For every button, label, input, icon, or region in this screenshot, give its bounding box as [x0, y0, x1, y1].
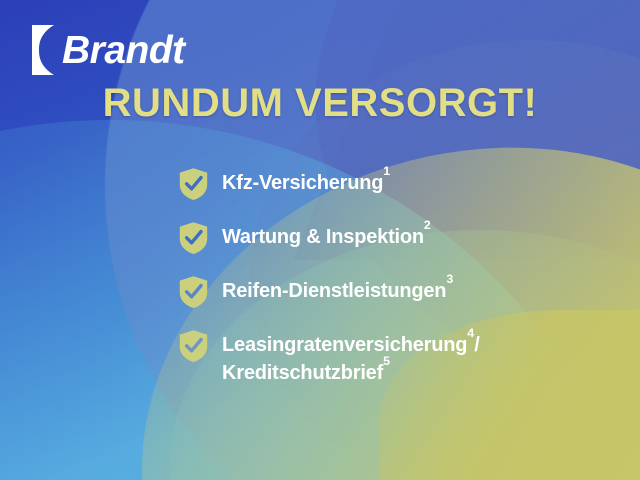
benefit-footnote: 3 [446, 272, 453, 286]
benefit-footnote: 4 [467, 326, 474, 340]
shield-check-icon [178, 275, 209, 309]
shield-check-icon [178, 167, 209, 201]
benefit-text: Reifen-Dienstleistungen [222, 280, 446, 302]
brand-logo: Brandt [28, 22, 185, 78]
shield-check-icon [178, 329, 209, 363]
benefit-text: Wartung & Inspektion [222, 226, 424, 248]
bracket-mark-icon [28, 24, 58, 76]
brand-name: Brandt [62, 31, 185, 70]
benefit-label: Wartung & Inspektion2 [222, 220, 431, 251]
benefit-footnote: 2 [424, 218, 431, 232]
shield-check-icon [178, 221, 209, 255]
benefit-label: Kfz-Versicherung1 [222, 166, 390, 197]
list-item: Kfz-Versicherung1 [178, 166, 600, 201]
benefit-text: Kfz-Versicherung [222, 172, 383, 194]
benefit-text-2: Kreditschutzbrief [222, 362, 383, 384]
benefit-label: Leasingratenversicherung4/Kreditschutzbr… [222, 328, 480, 388]
benefits-list: Kfz-Versicherung1 Wartung & Inspektion2 [178, 166, 600, 388]
promo-banner: Brandt RUNDUM VERSORGT! Kfz-Versicherung… [0, 0, 640, 480]
list-item: Leasingratenversicherung4/Kreditschutzbr… [178, 328, 600, 388]
benefit-label: Reifen-Dienstleistungen3 [222, 274, 453, 305]
benefit-footnote-2: 5 [383, 354, 390, 368]
benefit-footnote: 1 [383, 164, 390, 178]
page-title: RUNDUM VERSORGT! [0, 82, 640, 124]
benefit-text: Leasingratenversicherung [222, 334, 467, 356]
list-item: Reifen-Dienstleistungen3 [178, 274, 600, 309]
list-item: Wartung & Inspektion2 [178, 220, 600, 255]
benefit-separator: / [474, 334, 479, 356]
